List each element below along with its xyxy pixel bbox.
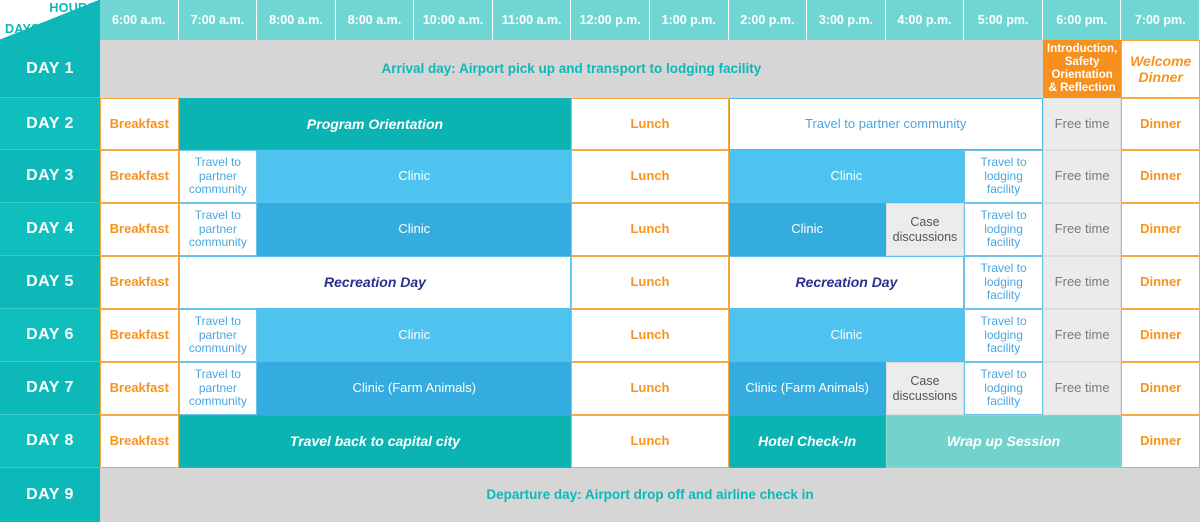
- day-label-8: DAY 8: [0, 415, 100, 468]
- cell-day3-dinner: Dinner: [1121, 150, 1200, 203]
- cell-day8-wrap-up-session: Wrap up Session: [886, 415, 1122, 468]
- cell-day2-dinner: Dinner: [1121, 98, 1200, 150]
- cell-day3-travel-partner-community: Travel to partner community: [179, 150, 258, 203]
- cell-day7-dinner: Dinner: [1121, 362, 1200, 415]
- cell-day6-travel-partner-community: Travel to partner community: [179, 309, 258, 362]
- hours-axis-label: HOURS: [49, 1, 96, 15]
- hour-header-12: 6:00 pm.: [1043, 0, 1122, 40]
- cell-day6-clinic-afternoon: Clinic: [729, 309, 965, 362]
- cell-day6-breakfast: Breakfast: [100, 309, 179, 362]
- cell-day4-breakfast: Breakfast: [100, 203, 179, 256]
- cell-day7-travel-partner-community: Travel to partner community: [179, 362, 258, 415]
- cell-day4-lunch: Lunch: [571, 203, 728, 256]
- cell-day6-lunch: Lunch: [571, 309, 728, 362]
- cell-day7-free-time: Free time: [1043, 362, 1122, 415]
- cell-day6-free-time: Free time: [1043, 309, 1122, 362]
- day-label-4: DAY 4: [0, 203, 100, 256]
- day-label-7: DAY 7: [0, 362, 100, 415]
- hour-header-10: 4:00 p.m.: [886, 0, 965, 40]
- cell-day2-free-time: Free time: [1043, 98, 1122, 150]
- hour-header-3: 8:00 a.m.: [336, 0, 415, 40]
- day-label-1: DAY 1: [0, 40, 100, 98]
- cell-day5-breakfast: Breakfast: [100, 256, 179, 309]
- cell-day8-breakfast: Breakfast: [100, 415, 179, 468]
- cell-day5-lunch: Lunch: [571, 256, 728, 309]
- cell-day7-travel-lodging-facility: Travel to lodging facility: [964, 362, 1043, 415]
- schedule-table: HOURS DAYS 6:00 a.m. 7:00 a.m. 8:00 a.m.…: [0, 0, 1200, 522]
- hour-header-2: 8:00 a.m.: [257, 0, 336, 40]
- cell-day4-free-time: Free time: [1043, 203, 1122, 256]
- days-axis-label: DAYS: [5, 22, 40, 36]
- day-label-3: DAY 3: [0, 150, 100, 203]
- cell-day8-hotel-check-in: Hotel Check-In: [729, 415, 886, 468]
- cell-day5-free-time: Free time: [1043, 256, 1122, 309]
- cell-day7-clinic-morning: Clinic (Farm Animals): [257, 362, 571, 415]
- cell-day7-case-discussions: Case discussions: [886, 362, 965, 415]
- cell-day4-dinner: Dinner: [1121, 203, 1200, 256]
- cell-day3-clinic-afternoon: Clinic: [729, 150, 965, 203]
- cell-day6-travel-lodging-facility: Travel to lodging facility: [964, 309, 1043, 362]
- day-label-5: DAY 5: [0, 256, 100, 309]
- cell-day4-clinic-morning: Clinic: [257, 203, 571, 256]
- hour-header-4: 10:00 a.m.: [414, 0, 493, 40]
- cell-day2-breakfast: Breakfast: [100, 98, 179, 150]
- cell-day4-clinic-afternoon: Clinic: [729, 203, 886, 256]
- cell-day7-clinic-afternoon: Clinic (Farm Animals): [729, 362, 886, 415]
- hour-header-1: 7:00 a.m.: [179, 0, 258, 40]
- cell-day4-travel-lodging-facility: Travel to lodging facility: [964, 203, 1043, 256]
- hour-header-13: 7:00 pm.: [1121, 0, 1200, 40]
- cell-day6-clinic-morning: Clinic: [257, 309, 571, 362]
- day-label-9: DAY 9: [0, 468, 100, 522]
- hour-header-8: 2:00 p.m.: [729, 0, 808, 40]
- cell-day7-breakfast: Breakfast: [100, 362, 179, 415]
- cell-day1-introduction: Introduction, Safety Orientation & Refle…: [1043, 40, 1122, 98]
- hour-header-7: 1:00 p.m.: [650, 0, 729, 40]
- cell-day8-travel-back-capital: Travel back to capital city: [179, 415, 572, 468]
- cell-day2-travel-partner-community: Travel to partner community: [729, 98, 1043, 150]
- hour-header-11: 5:00 pm.: [964, 0, 1043, 40]
- cell-day3-lunch: Lunch: [571, 150, 728, 203]
- corner-hours-days-header: HOURS DAYS: [0, 0, 100, 40]
- cell-day4-case-discussions: Case discussions: [886, 203, 965, 256]
- hour-header-9: 3:00 p.m.: [807, 0, 886, 40]
- cell-day8-dinner: Dinner: [1121, 415, 1200, 468]
- cell-day2-program-orientation: Program Orientation: [179, 98, 572, 150]
- hour-header-5: 11:00 a.m.: [493, 0, 572, 40]
- hour-header-6: 12:00 p.m.: [571, 0, 650, 40]
- cell-day6-dinner: Dinner: [1121, 309, 1200, 362]
- cell-day5-travel-lodging-facility: Travel to lodging facility: [964, 256, 1043, 309]
- cell-day9-departure: Departure day: Airport drop off and airl…: [100, 468, 1200, 522]
- day-label-6: DAY 6: [0, 309, 100, 362]
- cell-day3-breakfast: Breakfast: [100, 150, 179, 203]
- cell-day8-lunch: Lunch: [571, 415, 728, 468]
- cell-day3-free-time: Free time: [1043, 150, 1122, 203]
- cell-day3-travel-lodging-facility: Travel to lodging facility: [964, 150, 1043, 203]
- cell-day5-recreation-afternoon: Recreation Day: [729, 256, 965, 309]
- cell-day1-arrival: Arrival day: Airport pick up and transpo…: [100, 40, 1043, 98]
- hour-header-0: 6:00 a.m.: [100, 0, 179, 40]
- cell-day2-lunch: Lunch: [571, 98, 728, 150]
- day-label-2: DAY 2: [0, 98, 100, 150]
- cell-day3-clinic-morning: Clinic: [257, 150, 571, 203]
- cell-day5-dinner: Dinner: [1121, 256, 1200, 309]
- cell-day1-welcome-dinner: Welcome Dinner: [1121, 40, 1200, 98]
- cell-day5-recreation-morning: Recreation Day: [179, 256, 572, 309]
- cell-day7-lunch: Lunch: [571, 362, 728, 415]
- cell-day4-travel-partner-community: Travel to partner community: [179, 203, 258, 256]
